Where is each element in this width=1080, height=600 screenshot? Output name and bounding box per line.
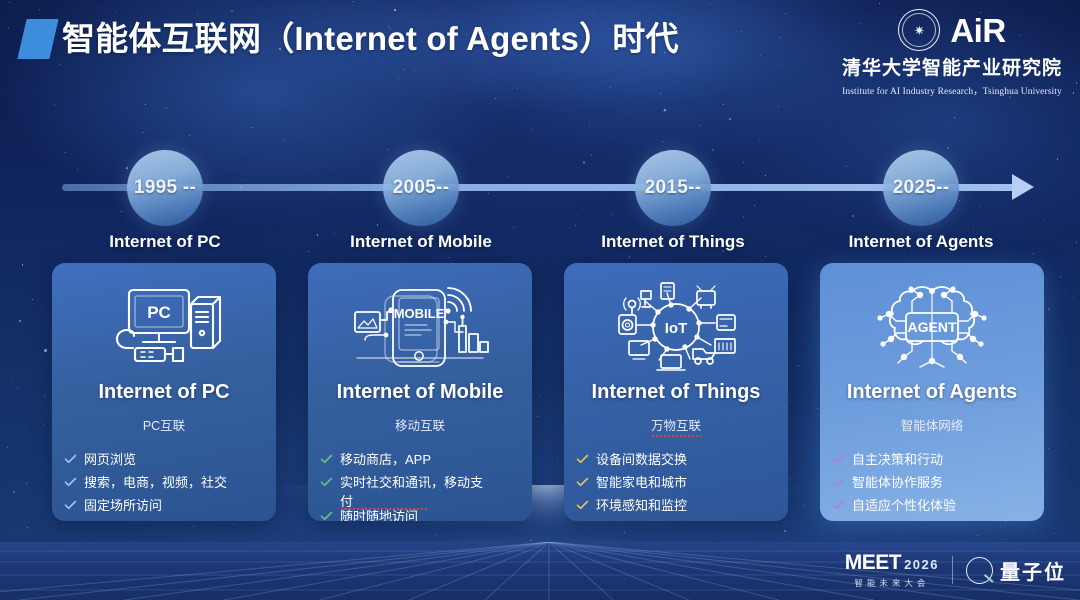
card-internet-of-mobile[interactable]: MOBILE xyxy=(308,263,532,521)
bullet-text: 固定场所访问 xyxy=(84,496,162,515)
timeline-label: Internet of PC xyxy=(80,232,250,252)
card-bullet-list: 移动商店，APP 实时社交和通讯，移动支付 随时随地访问 xyxy=(320,450,532,521)
check-icon xyxy=(576,499,589,512)
accent-parallelogram-icon xyxy=(17,19,58,59)
card-bullet-list: 设备间数据交换 智能家电和城市 环境感知和监控 xyxy=(576,450,788,515)
slide-header: 智能体互联网（Internet of Agents）时代 ✷ AiR 清华大学智… xyxy=(0,0,1080,96)
pc-computer-icon: PC xyxy=(52,263,276,379)
list-item: 设备间数据交换 xyxy=(576,450,788,469)
list-item: 实时社交和通讯，移动支付 xyxy=(320,473,532,511)
meet-wordmark: MEET xyxy=(845,551,901,575)
timeline-label: Internet of Mobile xyxy=(336,232,506,252)
list-item: 智能体协作服务 xyxy=(832,473,1044,492)
timeline-label: Internet of Things xyxy=(588,232,758,252)
list-item: 自主决策和行动 xyxy=(832,450,1044,469)
check-icon xyxy=(320,476,333,489)
logo-air-mark: AiR xyxy=(950,14,1005,47)
era-timeline: 1995 -- Internet of PC 2005-- Internet o… xyxy=(0,150,1080,240)
timeline-circle: 1995 -- xyxy=(127,150,203,226)
bullet-text: 网页浏览 xyxy=(84,450,136,469)
bullet-text: 自适应个性化体验 xyxy=(852,496,956,515)
list-item: 网页浏览 xyxy=(64,450,276,469)
bullet-text: 环境感知和监控 xyxy=(596,496,687,515)
bullet-text: 设备间数据交换 xyxy=(596,450,687,469)
timeline-year: 2025-- xyxy=(893,177,950,199)
timeline-year: 2015-- xyxy=(645,177,702,199)
list-item: 环境感知和监控 xyxy=(576,496,788,515)
card-internet-of-pc[interactable]: PC Internet of PC PC互联 xyxy=(52,263,276,521)
agent-icon-label: AGENT xyxy=(908,319,957,335)
bullet-text: 智能家电和城市 xyxy=(596,473,687,492)
logo-en-name: Institute for AI Industry Research，Tsing… xyxy=(836,83,1068,97)
conference-footer: MEET 2026 智能未来大会 量子位 xyxy=(845,550,1066,590)
page-title: 智能体互联网（Internet of Agents）时代 xyxy=(62,14,679,64)
card-title: Internet of Mobile xyxy=(308,381,532,404)
qbit-q-icon xyxy=(966,557,993,584)
list-item: 移动商店，APP xyxy=(320,450,532,469)
agent-brain-icon: AGENT xyxy=(820,263,1044,379)
bullet-text: 实时社交和通讯，移动支付 xyxy=(340,473,490,511)
timeline-circle: 2005-- xyxy=(383,150,459,226)
timeline-node-2005[interactable]: 2005-- Internet of Mobile xyxy=(336,150,506,252)
card-title: Internet of Things xyxy=(564,381,788,404)
card-subtitle: PC互联 xyxy=(52,415,276,436)
card-title: Internet of Agents xyxy=(820,381,1044,404)
bullet-text: 移动商店，APP xyxy=(340,450,431,469)
card-internet-of-agents[interactable]: AGENT xyxy=(820,263,1044,521)
check-icon xyxy=(64,453,77,466)
iot-icon-label: IoT xyxy=(665,320,688,337)
check-icon xyxy=(832,453,845,466)
list-item: 固定场所访问 xyxy=(64,496,276,515)
check-icon xyxy=(64,476,77,489)
qbit-logo: 量子位 xyxy=(966,556,1066,585)
qbit-cn-name: 量子位 xyxy=(1000,556,1066,585)
card-bullet-list: 网页浏览 搜索，电商，视频，社交 固定场所访问 xyxy=(64,450,276,515)
air-logo: ✷ AiR 清华大学智能产业研究院 Institute for AI Indus… xyxy=(836,8,1068,92)
slide-canvas: 智能体互联网（Internet of Agents）时代 ✷ AiR 清华大学智… xyxy=(0,0,1080,600)
timeline-node-1995[interactable]: 1995 -- Internet of PC xyxy=(80,150,250,252)
bullet-text: 自主决策和行动 xyxy=(852,450,943,469)
meet-logo: MEET 2026 智能未来大会 xyxy=(845,551,939,589)
mobile-icon-label: MOBILE xyxy=(394,306,445,321)
meet-year: 2026 xyxy=(904,557,939,572)
check-icon xyxy=(576,476,589,489)
timeline-node-2025[interactable]: 2025-- Internet of Agents xyxy=(836,150,1006,252)
timeline-label: Internet of Agents xyxy=(836,232,1006,252)
timeline-circle: 2025-- xyxy=(883,150,959,226)
bullet-text: 智能体协作服务 xyxy=(852,473,943,492)
check-icon xyxy=(320,453,333,466)
bullet-text: 随时随地访问 xyxy=(340,507,418,521)
bullet-text: 搜索，电商，视频，社交 xyxy=(84,473,227,492)
card-subtitle: 万物互联 xyxy=(564,415,788,436)
meet-cn-name: 智能未来大会 xyxy=(854,577,929,589)
list-item: 搜索，电商，视频，社交 xyxy=(64,473,276,492)
card-internet-of-things[interactable]: IoT xyxy=(564,263,788,521)
card-subtitle: 智能体网络 xyxy=(820,415,1044,436)
card-title: Internet of PC xyxy=(52,381,276,404)
timeline-year: 2005-- xyxy=(393,177,450,199)
list-item: 智能家电和城市 xyxy=(576,473,788,492)
list-item: 自适应个性化体验 xyxy=(832,496,1044,515)
iot-network-icon: IoT xyxy=(564,263,788,379)
logo-cn-name: 清华大学智能产业研究院 xyxy=(836,53,1068,80)
era-cards: PC Internet of PC PC互联 xyxy=(0,263,1080,521)
footer-divider xyxy=(952,556,953,584)
card-bullet-list: 自主决策和行动 智能体协作服务 自适应个性化体验 xyxy=(832,450,1044,515)
check-icon xyxy=(576,453,589,466)
timeline-year: 1995 -- xyxy=(134,177,196,199)
pc-icon-label: PC xyxy=(147,303,171,322)
tsinghua-seal-icon: ✷ xyxy=(898,9,940,51)
arrow-right-icon xyxy=(1012,174,1034,200)
check-icon xyxy=(64,499,77,512)
timeline-circle: 2015-- xyxy=(635,150,711,226)
check-icon xyxy=(320,510,333,521)
card-subtitle: 移动互联 xyxy=(308,415,532,436)
check-icon xyxy=(832,476,845,489)
check-icon xyxy=(832,499,845,512)
timeline-node-2015[interactable]: 2015-- Internet of Things xyxy=(588,150,758,252)
mobile-phone-icon: MOBILE xyxy=(308,263,532,379)
